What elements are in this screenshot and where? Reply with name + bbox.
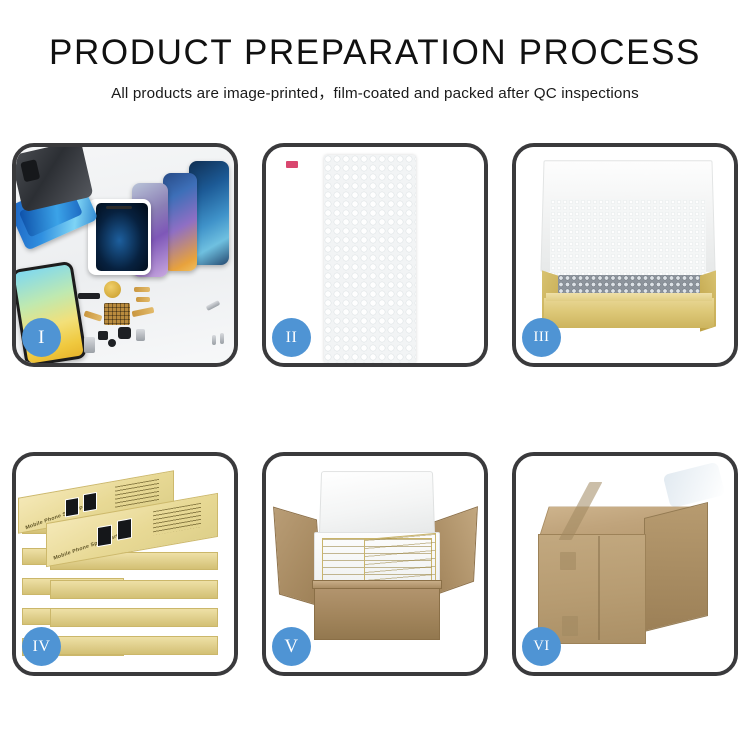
carton-rim — [312, 580, 442, 589]
spare-part-speaker — [104, 281, 121, 298]
spare-part-flex-4 — [132, 307, 155, 317]
header: PRODUCT PREPARATION PROCESS All products… — [0, 34, 750, 103]
spare-part-sim-tray — [84, 337, 95, 353]
gold-box-r3 — [50, 608, 218, 627]
plastic-wrap-glint — [663, 462, 726, 509]
steps-grid: I II — [12, 143, 738, 676]
step-badge-1: I — [22, 318, 61, 357]
step-badge-6: VI — [522, 627, 561, 666]
spare-part-pin-1 — [212, 335, 216, 345]
gold-box-photo-b2 — [117, 518, 132, 541]
spare-part-tweezer — [206, 300, 221, 311]
step-card-4: Mobile Phone Spare Parts Mobile Phone Sp… — [12, 452, 238, 676]
step-badge-5: V — [272, 627, 311, 666]
gold-box-photo-a2 — [83, 492, 97, 512]
foam-sheet — [550, 199, 706, 277]
spare-part-earpiece — [78, 293, 100, 299]
spare-part-vibrator — [136, 329, 145, 341]
gold-box-photo-a1 — [65, 497, 79, 517]
spare-part-flex-2 — [136, 297, 150, 302]
spare-part-camera — [118, 327, 131, 339]
step-badge-2: II — [272, 318, 311, 357]
spare-part-flex-1 — [134, 287, 150, 292]
spare-part-button — [98, 331, 108, 340]
gold-box-photo-b1 — [97, 525, 112, 548]
spare-part-flex-3 — [84, 310, 103, 321]
page-subtitle: All products are image-printed，film-coat… — [0, 81, 750, 103]
step-card-6: VI — [512, 452, 738, 676]
spare-part-pin-2 — [220, 333, 224, 344]
carton-tape-patch-1 — [560, 552, 576, 570]
carton-side-face — [644, 502, 708, 632]
phone-display-2 — [88, 199, 151, 275]
spare-part-ic-grid — [104, 303, 130, 325]
step-badge-4: IV — [22, 627, 61, 666]
phone-display-4 — [163, 173, 197, 271]
box-base-front — [544, 298, 714, 328]
gold-box-text-block-b — [153, 503, 201, 535]
carton-front-seam — [598, 536, 600, 640]
carton-front-face — [538, 534, 646, 644]
bubble-wrap-sleeve — [324, 155, 416, 363]
spare-part-screw — [108, 339, 116, 347]
box-base-rim — [546, 293, 712, 301]
lcd-pink-label — [286, 161, 298, 168]
foam-lid — [319, 471, 435, 536]
product-preparation-infographic: PRODUCT PREPARATION PROCESS All products… — [0, 0, 750, 750]
carton-body — [314, 584, 440, 640]
gold-boxes-inside-2 — [364, 533, 436, 587]
step-card-5: V — [262, 452, 488, 676]
step-badge-3: III — [522, 318, 561, 357]
gold-box-r4 — [50, 636, 218, 655]
step-card-3: III — [512, 143, 738, 367]
carton-tape-patch-2 — [562, 616, 578, 636]
step-card-1: I — [12, 143, 238, 367]
step-card-2: II — [262, 143, 488, 367]
gold-box-r2 — [50, 580, 218, 599]
page-title: PRODUCT PREPARATION PROCESS — [0, 34, 750, 72]
